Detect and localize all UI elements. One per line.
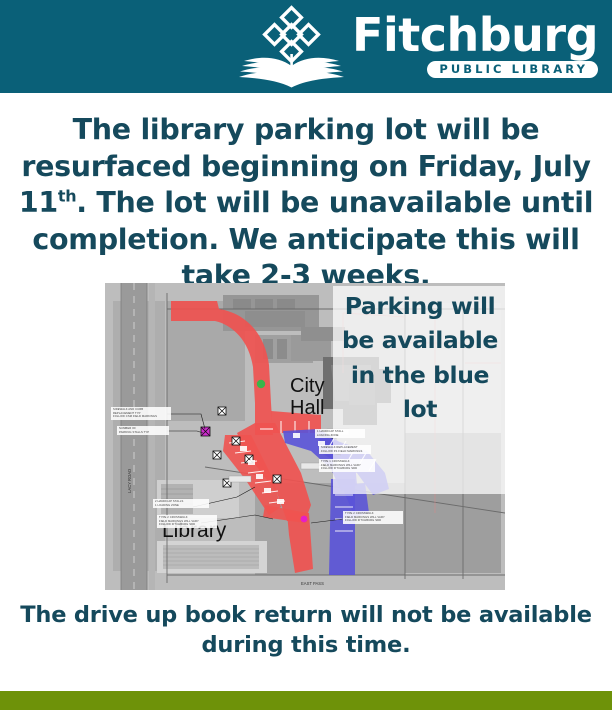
map-annotation: TYPE 2 CROSSWALK FIELD MARKINGS WILL VAR… [157,515,217,528]
date-ordinal-suffix: th [58,187,76,206]
map-annotation: 1 HANDICAP STALL LOADING ZONE [315,429,365,438]
map-marker-green [257,380,265,388]
quatrefoil-open-book-icon [230,4,350,90]
parking-lot-map-image: LACY ROAD EAST PASS Parking will be avai… [105,283,505,590]
svg-text:LACY ROAD: LACY ROAD [127,469,132,493]
library-logo-lockup: Fitchburg PUBLIC LIBRARY [230,4,598,90]
map-annotation: NUMBER OF PARKING STALLS TYP [117,426,169,435]
map-label-city-hall: City Hall [290,375,324,420]
footer-line-2: during this time. [202,632,411,658]
map-annotation: SIDEWALK REPLACEMENT FOLLOW FS FIELD MAR… [319,445,371,454]
footer-accent-bar [0,691,612,710]
footer-line-1: The drive up book return will not be ava… [20,602,592,628]
wordmark: Fitchburg PUBLIC LIBRARY [352,14,598,90]
header-bar: Fitchburg PUBLIC LIBRARY [0,0,612,93]
wordmark-subtitle: PUBLIC LIBRARY [427,61,598,78]
map-marker-magenta [301,516,308,523]
headline-message: The library parking lot will be resurfac… [14,112,598,295]
map-annotation: 2 HANDICAP STALLS 1 LOADING ZONE [153,499,209,508]
map-overlay-message: Parking will be available in the blue lo… [335,289,505,426]
wordmark-title: Fitchburg [352,14,598,56]
map-annotation: SIDEWALK AND CURB REPLACEMENT TYP FOLLOW… [111,407,171,420]
headline-line-2-b: . The lot will [76,186,270,219]
map-annotation: TYPE 1 CROSSWALK FIELD MARKINGS WILL VAR… [319,459,375,472]
footer-message: The drive up book return will not be ava… [14,601,598,660]
svg-text:EAST PASS: EAST PASS [301,581,324,586]
map-annotation: TYPE 2 CROSSWALK FIELD MARKINGS WILL VAR… [343,511,403,524]
